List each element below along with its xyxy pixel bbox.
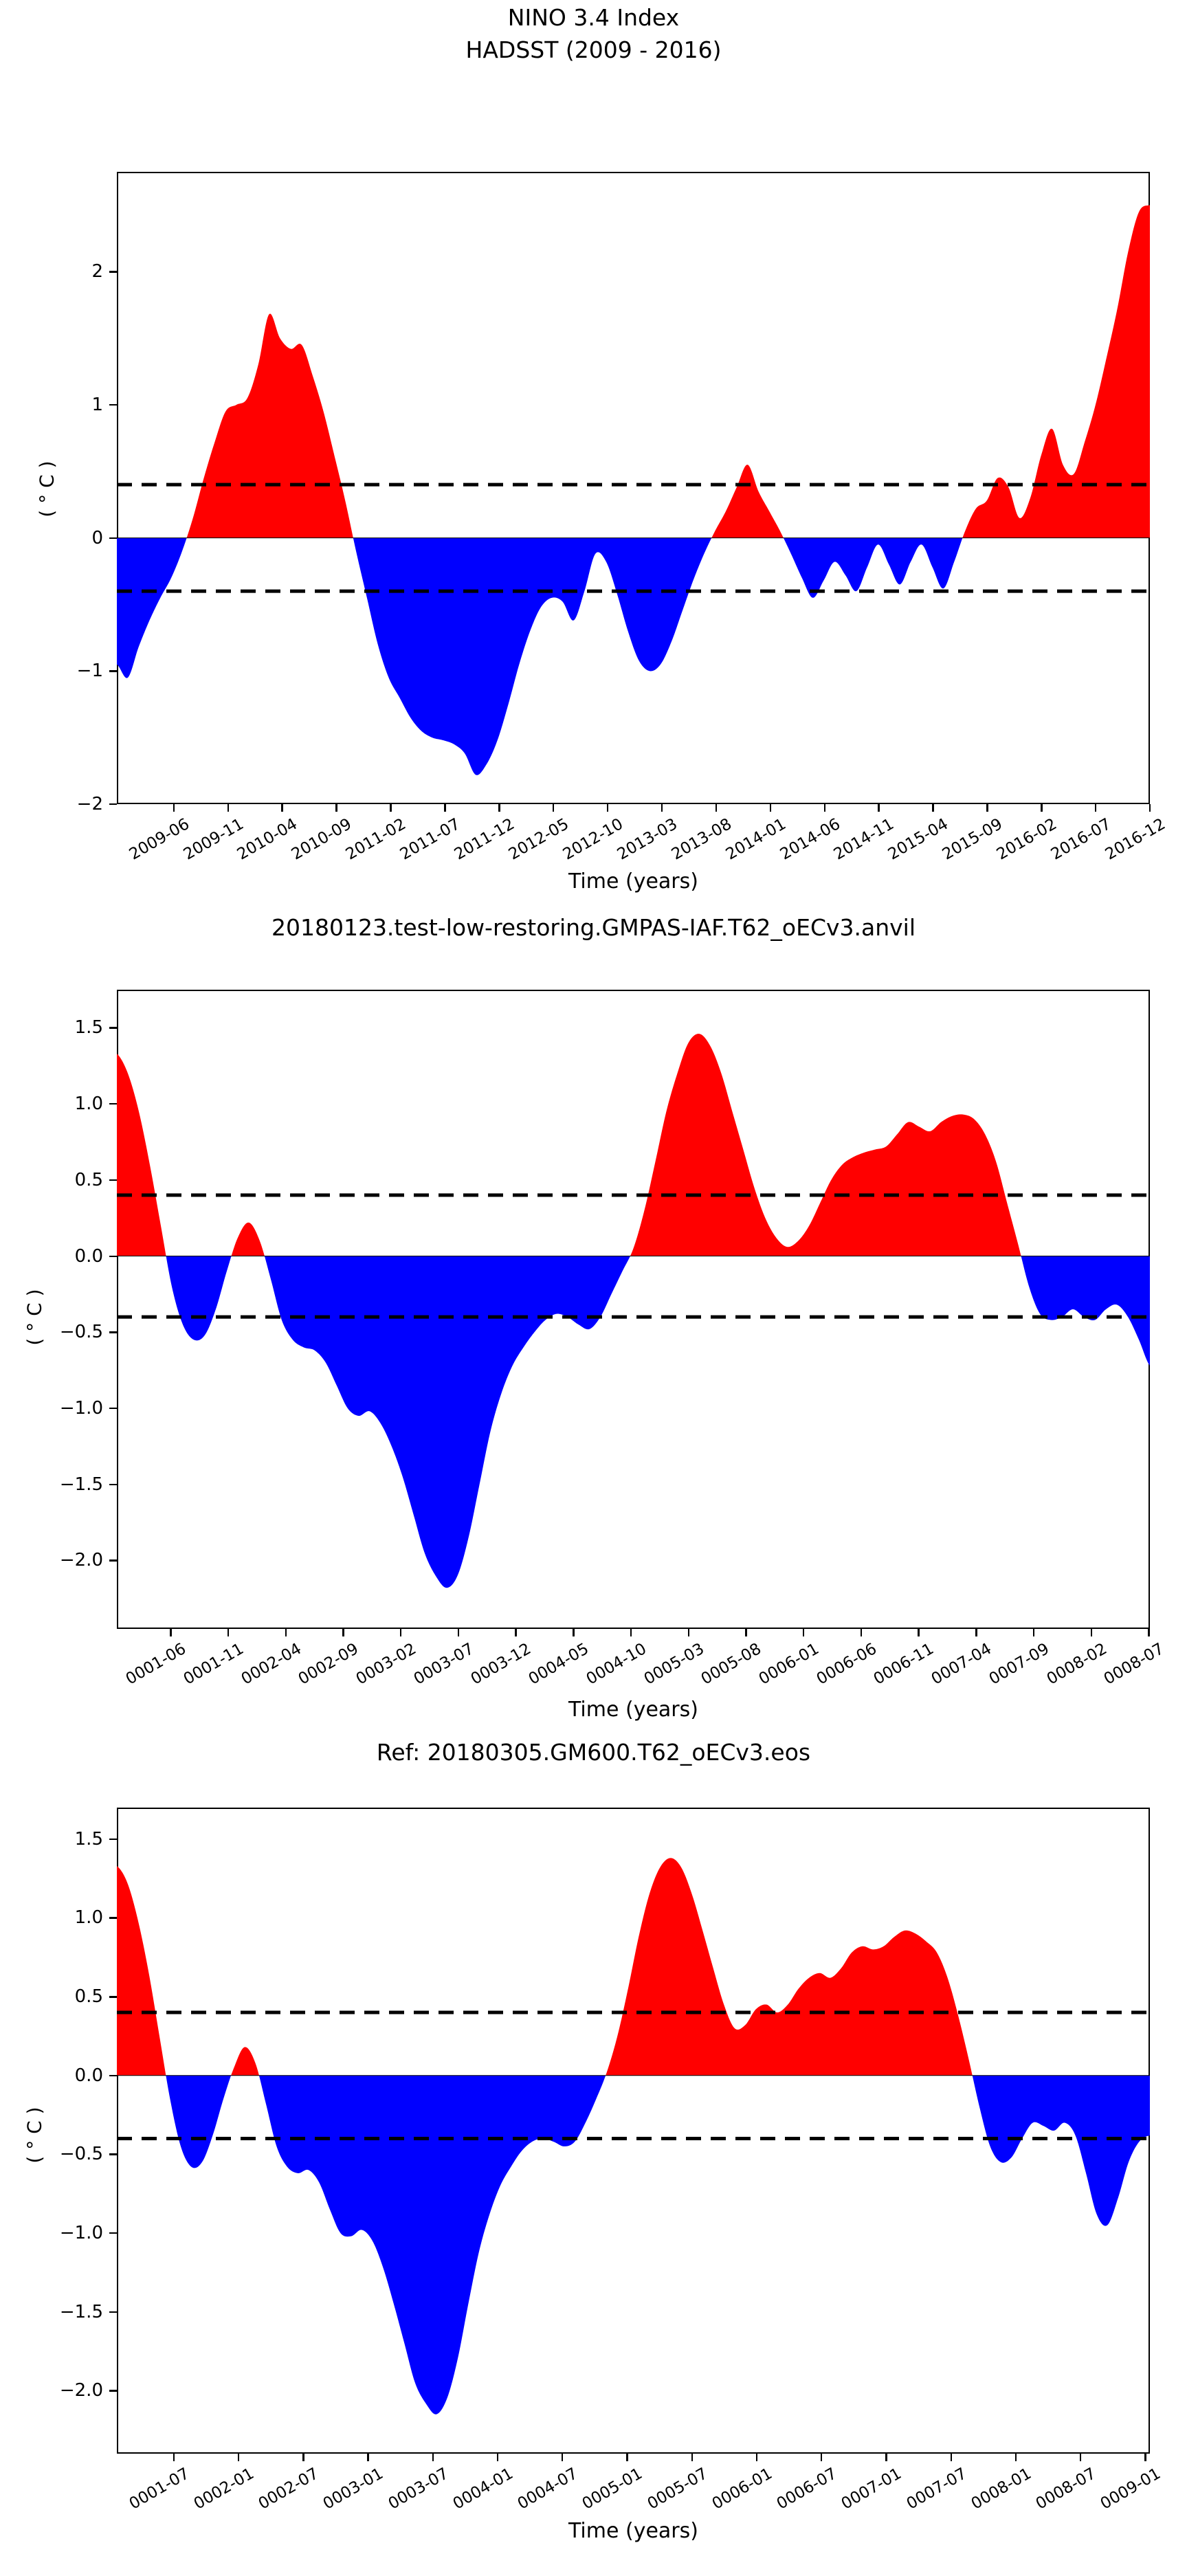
y-tick-label: 0.0 (0, 2065, 103, 2086)
y-tick-label: 0.5 (0, 1170, 103, 1190)
negative-anomaly-area (166, 1256, 1150, 1588)
y-tick-label: −1.5 (0, 2302, 103, 2322)
x-tick-mark (342, 1629, 344, 1636)
x-tick-mark (756, 2454, 757, 2461)
y-tick-mark (109, 1331, 117, 1333)
x-tick-mark (573, 1629, 574, 1636)
y-tick-mark (109, 1839, 117, 1840)
y-tick-label: −1.5 (0, 1474, 103, 1495)
x-tick-mark (691, 2454, 693, 2461)
y-tick-label: −2.0 (0, 2380, 103, 2401)
x-tick-mark (626, 2454, 628, 2461)
x-tick-mark (228, 1629, 229, 1636)
x-tick-mark (367, 2454, 368, 2461)
y-tick-label: −0.5 (0, 1322, 103, 1342)
y-tick-mark (109, 1103, 117, 1104)
y-tick-label: 1.0 (0, 1907, 103, 1928)
x-tick-mark (400, 1629, 401, 1636)
x-tick-mark (170, 1629, 171, 1636)
x-tick-mark (432, 2454, 434, 2461)
x-tick-mark (918, 1629, 919, 1636)
y-tick-mark (109, 2311, 117, 2313)
panel2-series-svg (117, 990, 1150, 1629)
x-tick-mark (285, 1629, 287, 1636)
negative-anomaly-area (166, 2076, 1150, 2414)
panel3-xlabel: Time (years) (117, 2519, 1150, 2543)
x-tick-mark (1148, 1629, 1149, 1636)
y-tick-label: −0.5 (0, 2144, 103, 2164)
figure-canvas: NINO 3.4 Index HADSST (2009 - 2016) −2−1… (0, 0, 1187, 2576)
y-tick-label: −2.0 (0, 1550, 103, 1570)
x-tick-mark (497, 2454, 498, 2461)
y-tick-label: 0.5 (0, 1986, 103, 2007)
x-tick-mark (302, 2454, 304, 2461)
x-tick-mark (562, 2454, 563, 2461)
y-tick-label: −1.0 (0, 2223, 103, 2243)
y-tick-mark (109, 1027, 117, 1028)
x-tick-mark (1091, 1629, 1092, 1636)
y-tick-label: 1.5 (0, 1017, 103, 1038)
y-tick-mark (109, 1917, 117, 1918)
positive-anomaly-area (117, 1858, 973, 2075)
y-tick-mark (109, 1559, 117, 1561)
y-tick-mark (109, 1484, 117, 1485)
x-tick-mark (1144, 2454, 1146, 2461)
panel2-title: 20180123.test-low-restoring.GMPAS-IAF.T6… (0, 914, 1187, 941)
x-tick-mark (630, 1629, 632, 1636)
x-tick-mark (515, 1629, 516, 1636)
x-tick-mark (821, 2454, 822, 2461)
y-tick-label: 0.0 (0, 1246, 103, 1267)
x-tick-mark (885, 2454, 887, 2461)
y-tick-mark (109, 2232, 117, 2234)
panel2-xlabel: Time (years) (117, 1698, 1150, 1722)
x-tick-mark (1033, 1629, 1034, 1636)
y-tick-mark (109, 1408, 117, 1409)
x-tick-mark (803, 1629, 804, 1636)
y-tick-label: 1.5 (0, 1829, 103, 1850)
x-tick-mark (238, 2454, 239, 2461)
panel-ref-gm600: Ref: 20180305.GM600.T62_oECv3.eos −2.0−1… (0, 0, 1187, 825)
panel3-ylabel: ( ° C ) (23, 2074, 46, 2197)
x-tick-mark (458, 1629, 459, 1636)
y-tick-mark (109, 1996, 117, 1997)
panel3-series-svg (117, 1808, 1150, 2454)
y-tick-label: −1.0 (0, 1398, 103, 1419)
x-tick-mark (745, 1629, 746, 1636)
y-tick-mark (109, 2153, 117, 2155)
y-tick-label: 1.0 (0, 1093, 103, 1114)
x-tick-mark (951, 2454, 952, 2461)
positive-anomaly-area (117, 1034, 1021, 1256)
panel2-ylabel: ( ° C ) (23, 1256, 46, 1379)
x-tick-mark (173, 2454, 175, 2461)
y-tick-mark (109, 2075, 117, 2076)
x-tick-mark (1080, 2454, 1081, 2461)
x-tick-mark (1015, 2454, 1017, 2461)
x-tick-mark (688, 1629, 689, 1636)
x-tick-mark (975, 1629, 977, 1636)
y-tick-mark (109, 1179, 117, 1181)
panel3-title: Ref: 20180305.GM600.T62_oECv3.eos (0, 1739, 1187, 1766)
x-tick-mark (861, 1629, 862, 1636)
y-tick-mark (109, 1256, 117, 1257)
y-tick-mark (109, 2390, 117, 2391)
panel1-xlabel: Time (years) (117, 869, 1150, 893)
